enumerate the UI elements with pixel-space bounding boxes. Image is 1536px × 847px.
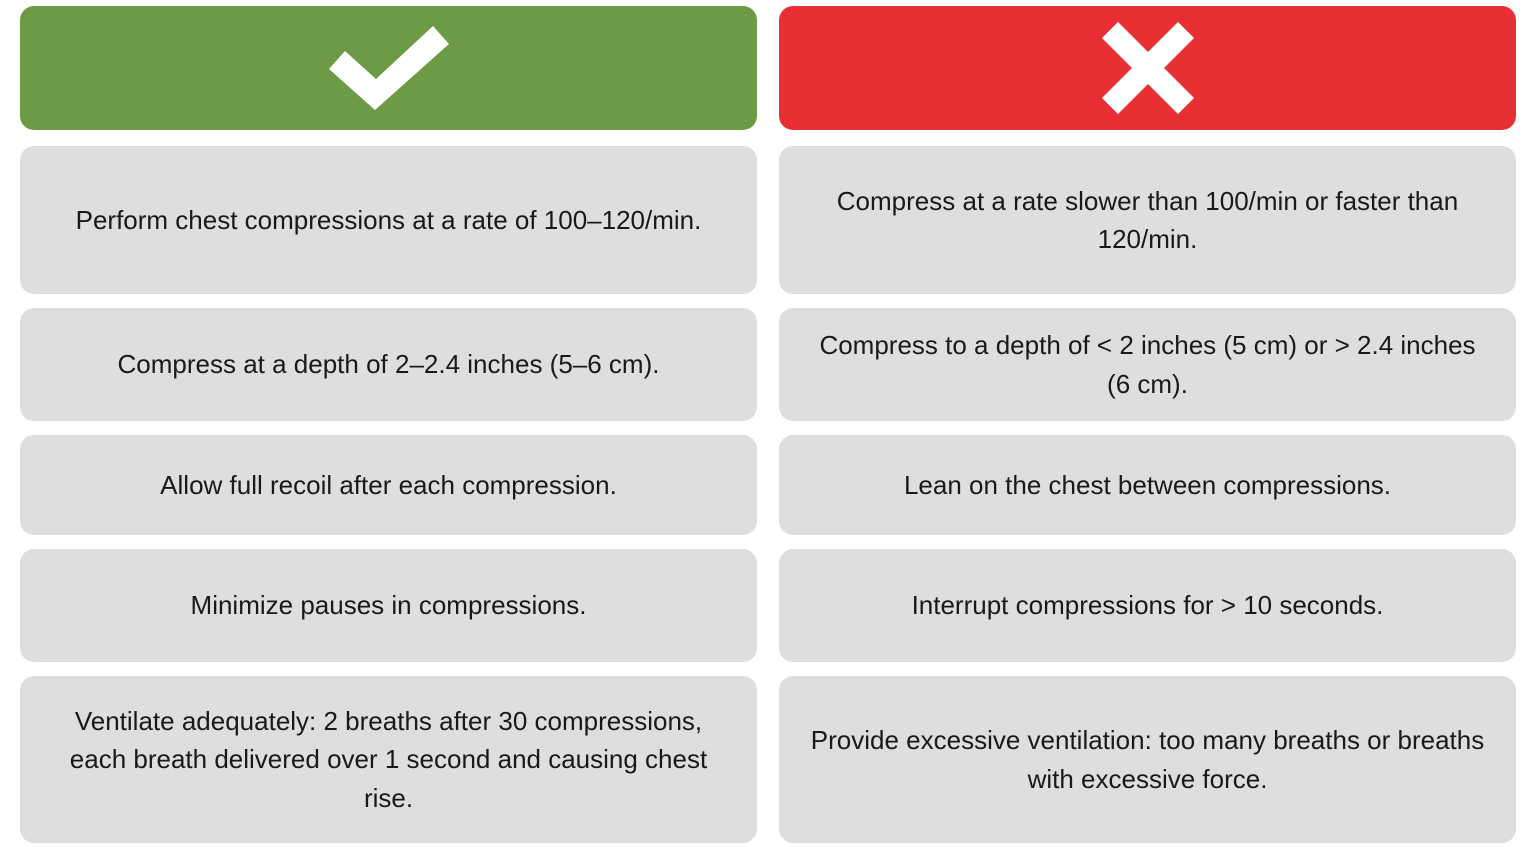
list-item-label: Ventilate adequately: 2 breaths after 30…	[46, 702, 731, 817]
cross-icon	[1100, 20, 1196, 116]
list-item-label: Allow full recoil after each compression…	[160, 466, 617, 504]
dont-column: Compress at a rate slower than 100/min o…	[779, 6, 1516, 843]
list-item: Perform chest compressions at a rate of …	[20, 146, 757, 294]
list-item-label: Compress to a depth of < 2 inches (5 cm)…	[805, 326, 1490, 403]
list-item: Minimize pauses in compressions.	[20, 549, 757, 662]
list-item: Provide excessive ventilation: too many …	[779, 676, 1516, 843]
do-column: Perform chest compressions at a rate of …	[20, 6, 757, 843]
list-item-label: Minimize pauses in compressions.	[191, 586, 587, 624]
do-and-dont-comparison-board: Perform chest compressions at a rate of …	[0, 0, 1536, 847]
list-item: Compress to a depth of < 2 inches (5 cm)…	[779, 308, 1516, 421]
list-item-label: Perform chest compressions at a rate of …	[76, 201, 702, 239]
do-column-header	[20, 6, 757, 130]
list-item: Ventilate adequately: 2 breaths after 30…	[20, 676, 757, 843]
list-item-label: Interrupt compressions for > 10 seconds.	[912, 586, 1384, 624]
dont-column-header	[779, 6, 1516, 130]
list-item-label: Provide excessive ventilation: too many …	[805, 721, 1490, 798]
check-icon	[328, 22, 450, 114]
list-item: Allow full recoil after each compression…	[20, 435, 757, 535]
list-item: Compress at a depth of 2–2.4 inches (5–6…	[20, 308, 757, 421]
list-item: Lean on the chest between compressions.	[779, 435, 1516, 535]
list-item: Compress at a rate slower than 100/min o…	[779, 146, 1516, 294]
list-item-label: Compress at a rate slower than 100/min o…	[805, 182, 1490, 259]
list-item: Interrupt compressions for > 10 seconds.	[779, 549, 1516, 662]
list-item-label: Compress at a depth of 2–2.4 inches (5–6…	[118, 345, 660, 383]
list-item-label: Lean on the chest between compressions.	[904, 466, 1391, 504]
column-divider	[757, 6, 779, 843]
